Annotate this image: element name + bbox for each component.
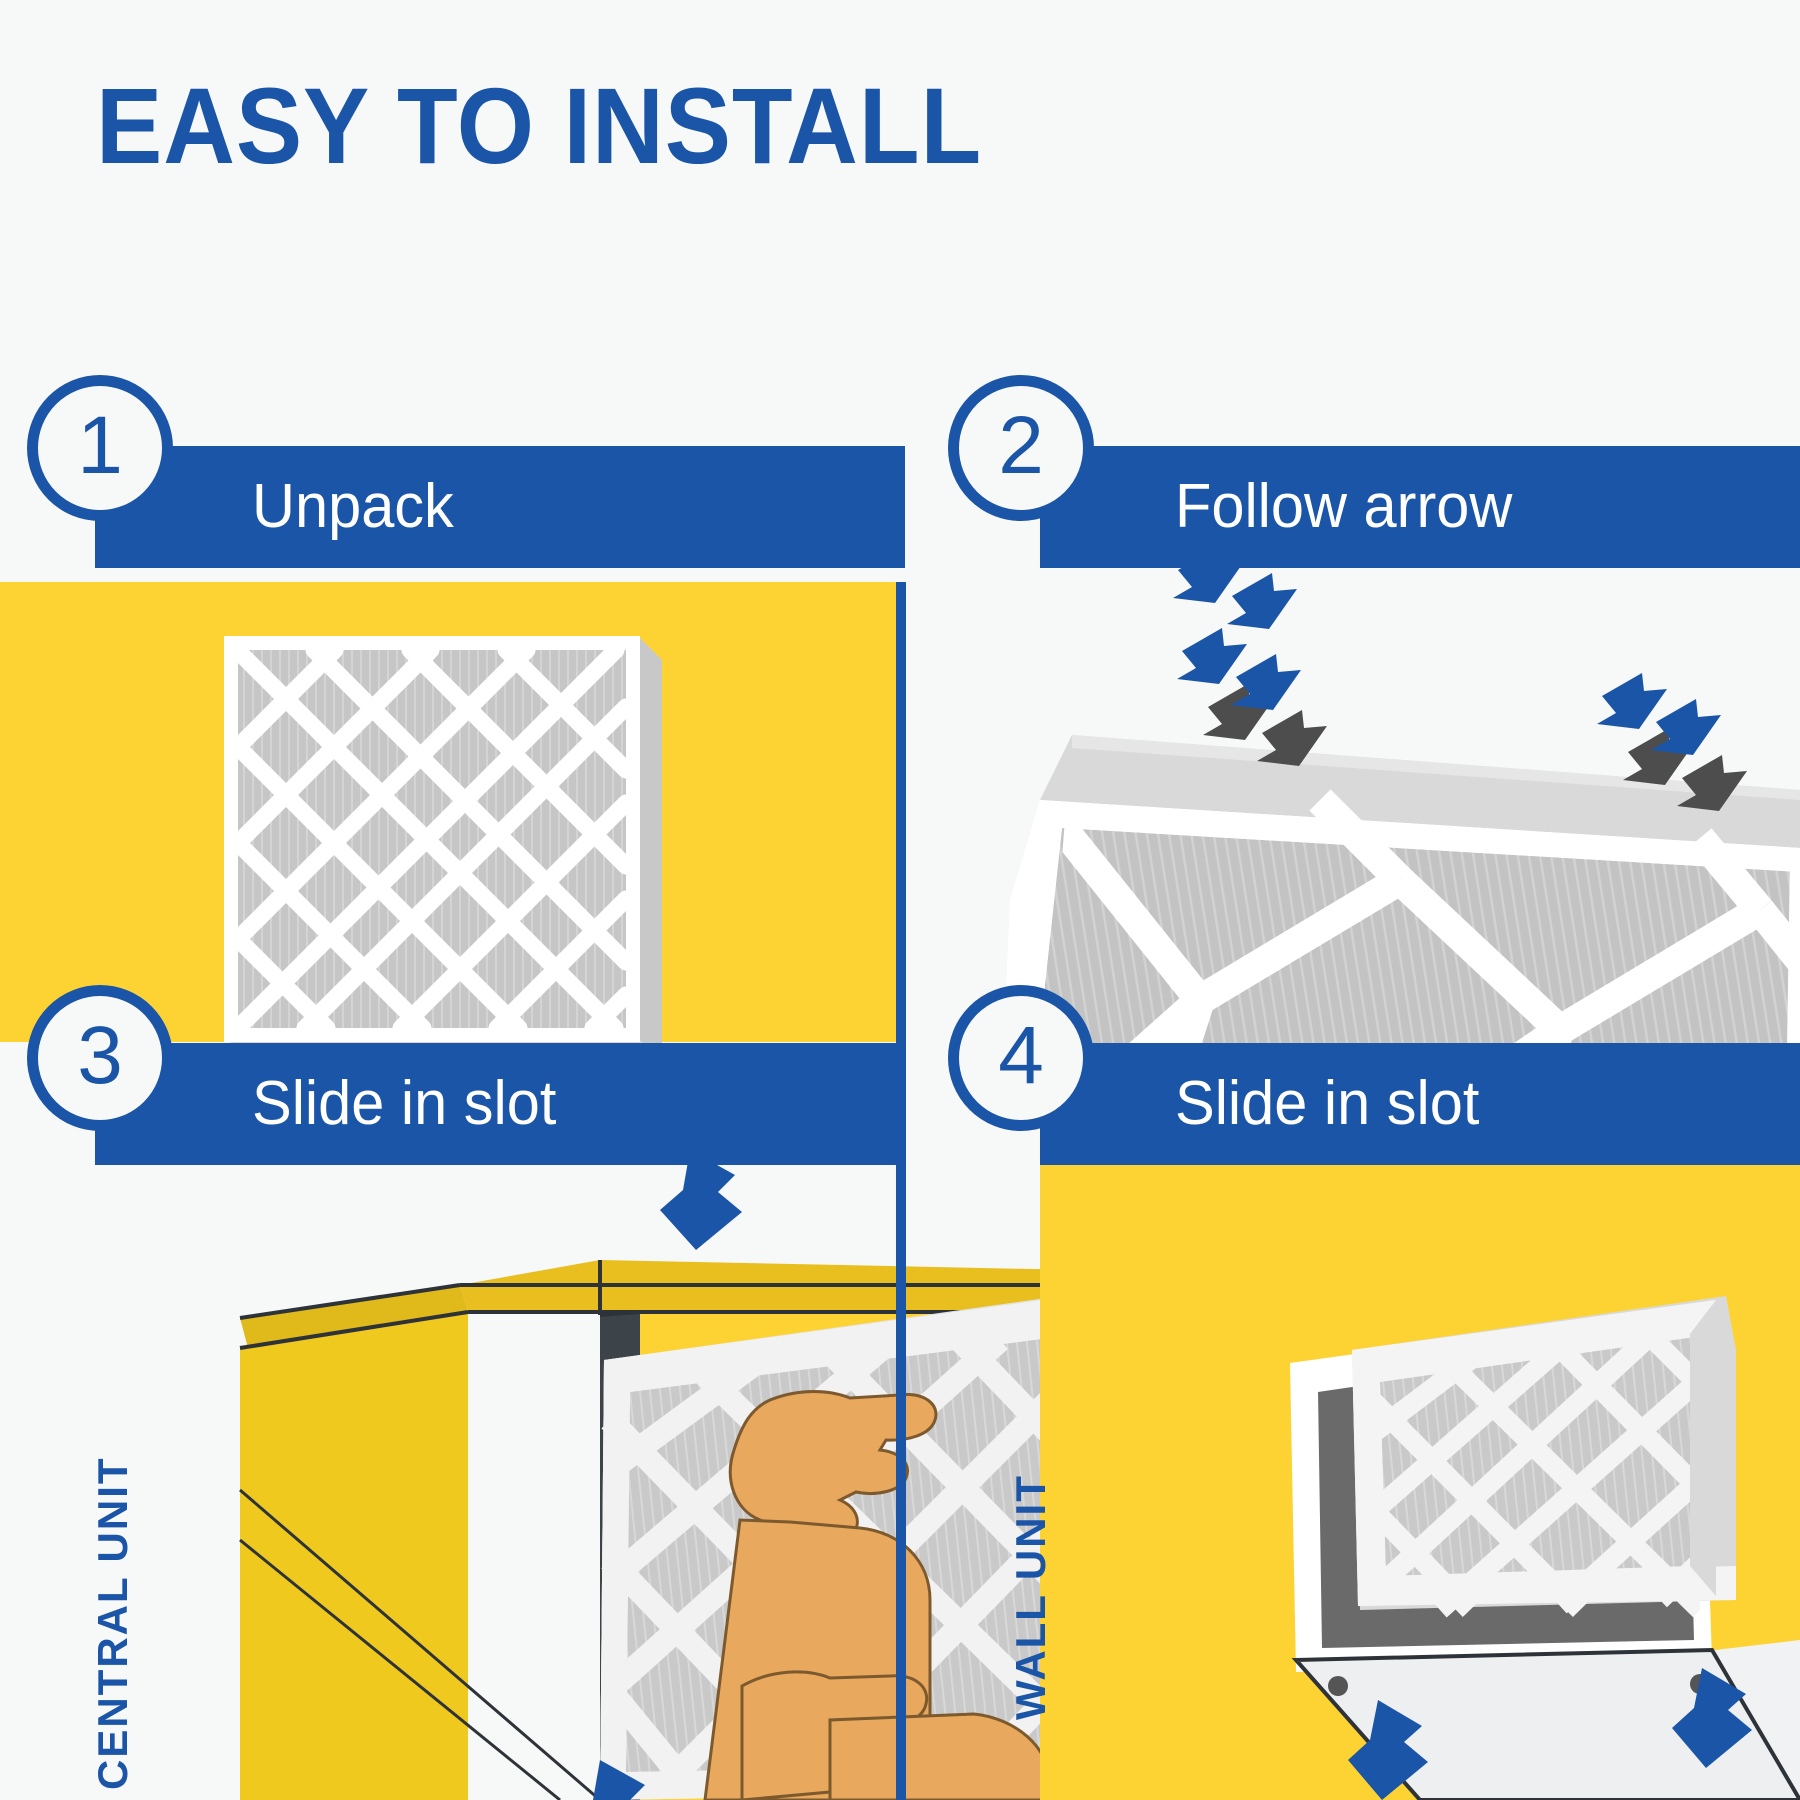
- step-4-label: Slide in slot: [1175, 1073, 1479, 1135]
- infographic-canvas: EASY TO INSTALL: [0, 0, 1800, 1800]
- step-2-badge: 2: [948, 375, 1094, 521]
- step-2-number: 2: [998, 405, 1044, 487]
- panel-1-body: [0, 582, 896, 1042]
- step-4-badge: 4: [948, 985, 1094, 1131]
- step-3-side-label: CENTRAL UNIT: [92, 1456, 134, 1790]
- step-1-label: Unpack: [252, 476, 454, 538]
- step-3-label: Slide in slot: [252, 1073, 556, 1135]
- step-2-label: Follow arrow: [1175, 476, 1512, 538]
- column-divider: [896, 582, 906, 1043]
- step-4-number: 4: [998, 1015, 1044, 1097]
- step-3-badge: 3: [27, 985, 173, 1131]
- step-1-badge: 1: [27, 375, 173, 521]
- page-title: EASY TO INSTALL: [96, 72, 982, 180]
- step-3-number: 3: [77, 1015, 123, 1097]
- step-1-number: 1: [77, 405, 123, 487]
- step-1-header-bar: [95, 446, 905, 568]
- step-4-side-label: WALL UNIT: [1010, 1474, 1052, 1720]
